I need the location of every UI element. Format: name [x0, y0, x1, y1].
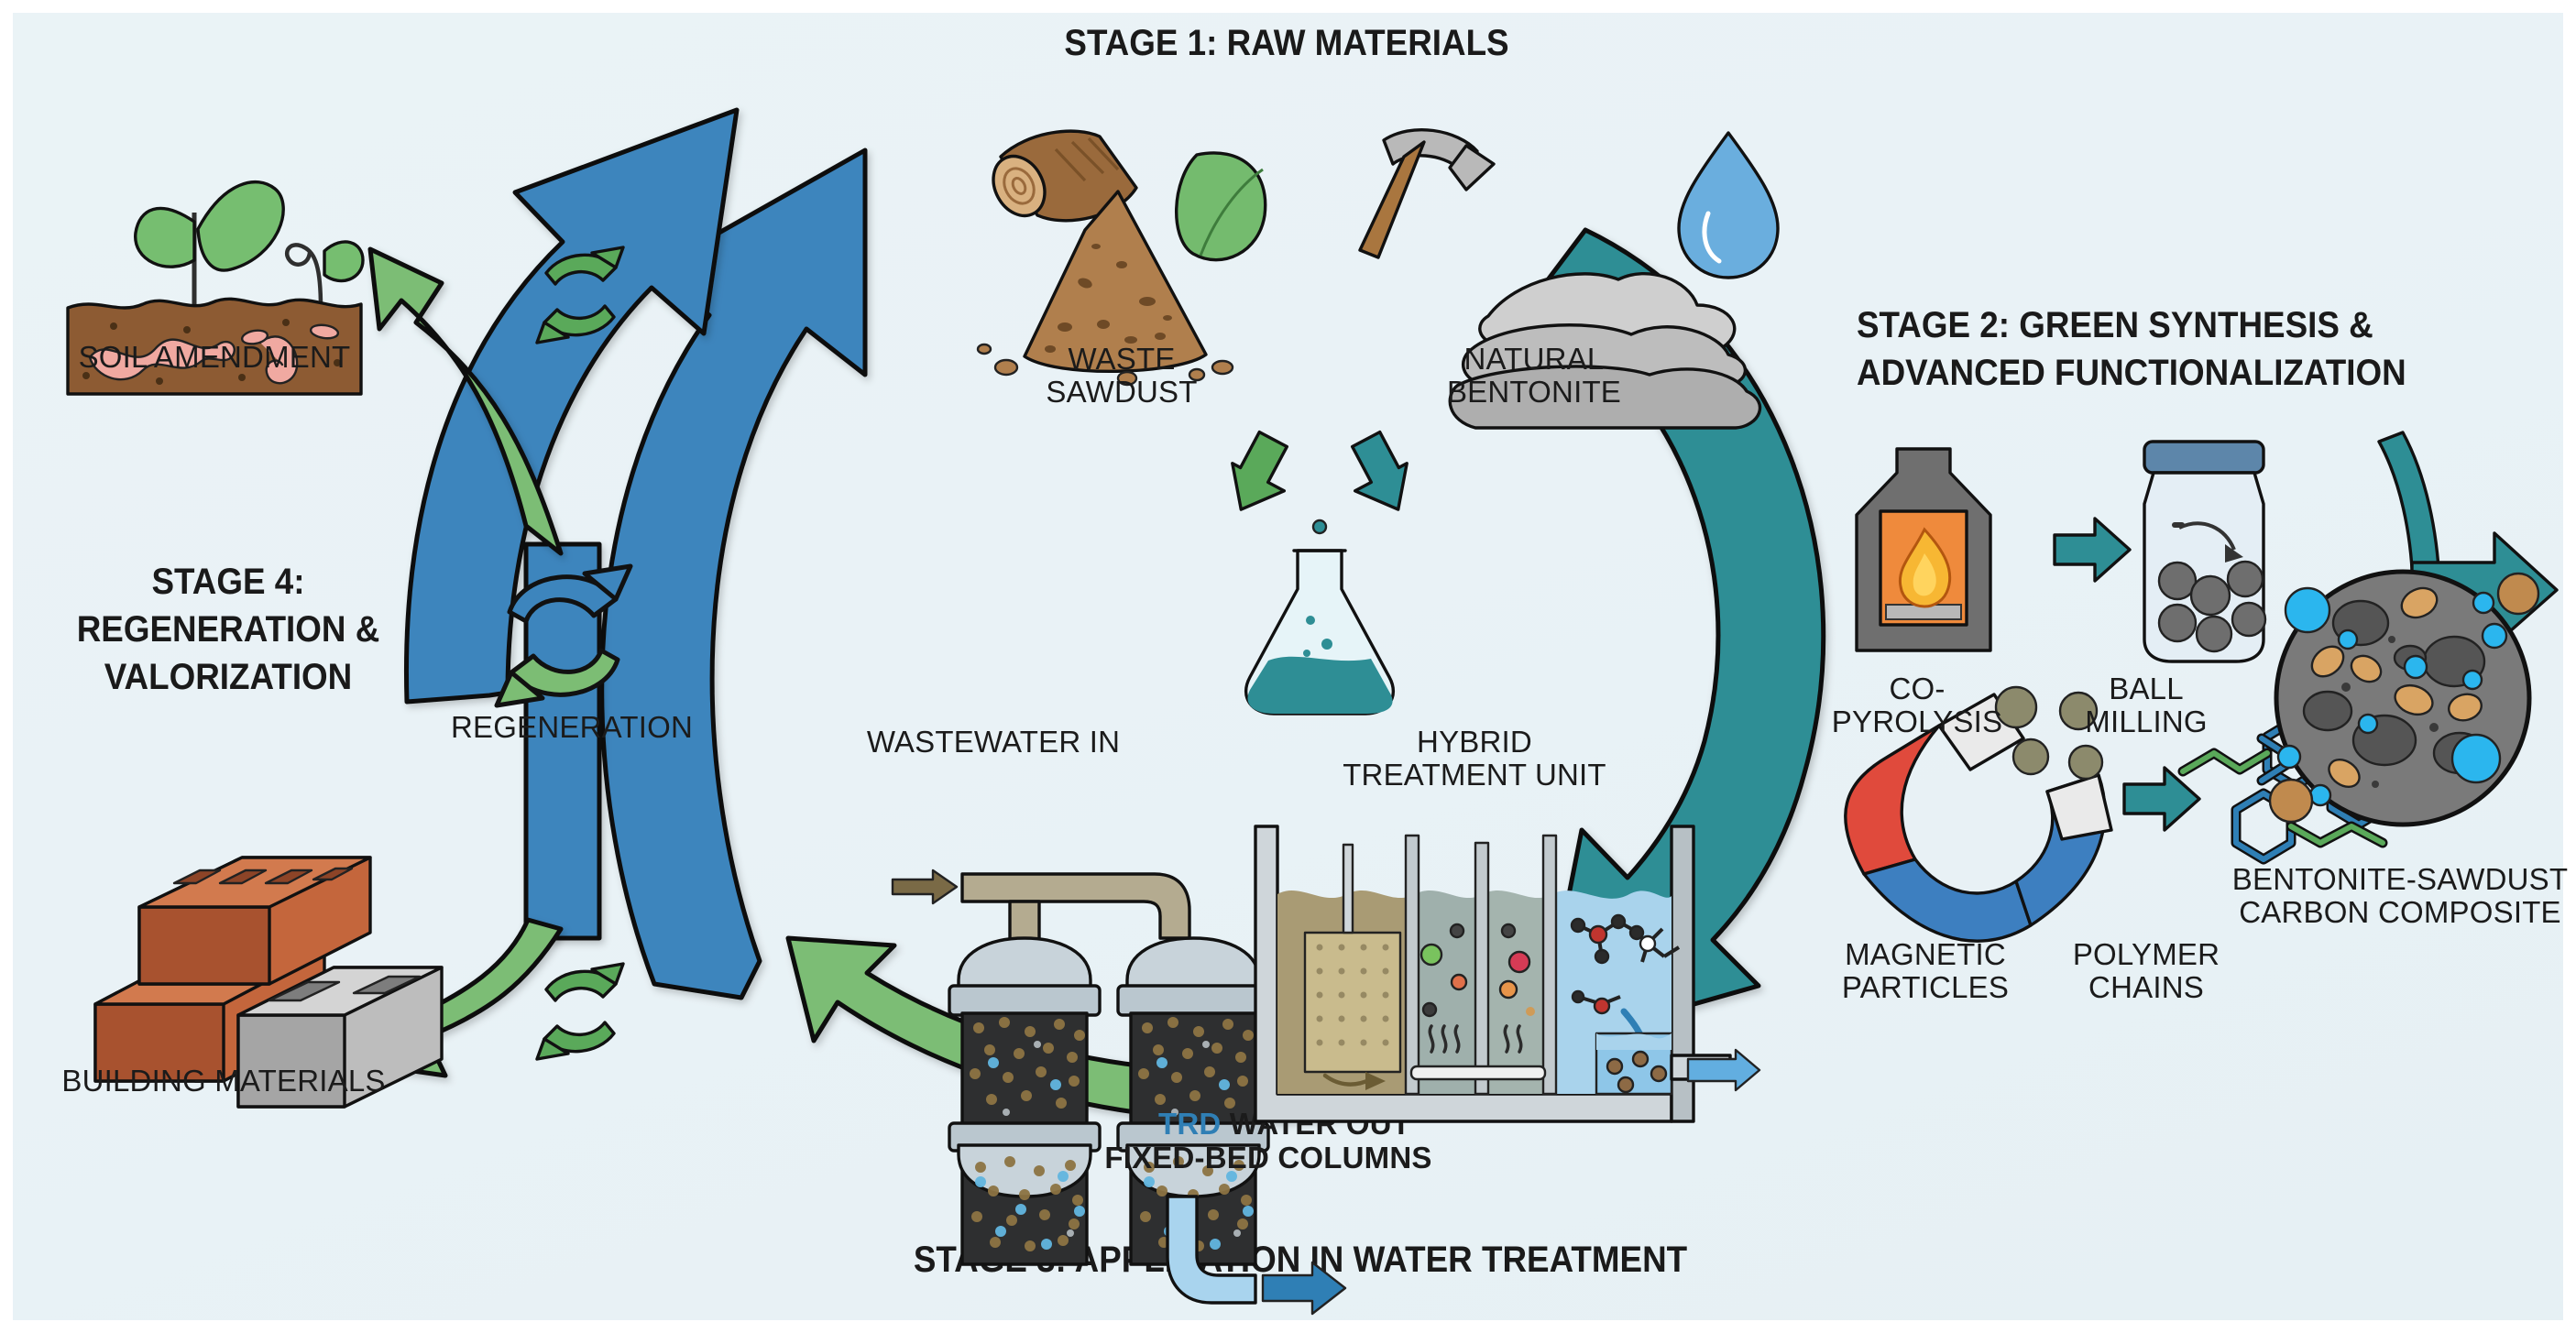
arrow-icon — [2124, 768, 2199, 830]
wastewater-in-label: WASTEWATER IN — [838, 726, 1149, 759]
arrow-icon — [893, 870, 957, 903]
furnace-fire-icon — [1857, 449, 1990, 650]
arrow-icon — [2055, 519, 2130, 581]
treatment-tank-icon — [1241, 792, 1754, 1158]
stage2-title-line2: ADVANCED FUNCTIONALIZATION — [1857, 354, 2531, 392]
leaf-icon — [1177, 153, 1266, 260]
water-droplet-icon — [1679, 133, 1778, 278]
stage2-title-line1: STAGE 2: GREEN SYNTHESIS & — [1857, 306, 2531, 344]
recycle-icon — [482, 552, 647, 716]
arrow-icon — [1215, 428, 1424, 523]
stage1-title: STAGE 1: RAW MATERIALS — [992, 24, 1582, 62]
recycle-icon — [515, 949, 643, 1077]
soil-amendment-label: SOIL AMENDMENT — [22, 341, 407, 374]
composite-label: BENTONITE-SAWDUST CARBON COMPOSITE — [2212, 863, 2576, 930]
diagram-background: STAGE 1: RAW MATERIALS STAGE 2: GREEN SY… — [13, 13, 2563, 1320]
ball-milling-label: BALL MILLING — [2055, 672, 2238, 739]
stage4-title-line2: REGENERATION & — [47, 610, 410, 649]
co-pyrolysis-label: CO- PYROLYSIS — [1816, 672, 2018, 739]
polymer-chains-label: POLYMER CHAINS — [2045, 938, 2247, 1005]
natural-bentonite-label: NATURAL BENTONITE — [1387, 343, 1681, 410]
stage4-title-line3: VALORIZATION — [47, 658, 410, 696]
stage1-icons — [948, 100, 1772, 576]
stage4-title-line1: STAGE 4: — [64, 563, 393, 601]
waste-sawdust-label: WASTE SAWDUST — [984, 343, 1259, 410]
magnetic-particles-label: MAGNETIC PARTICLES — [1811, 938, 2040, 1005]
building-materials-label: BUILDING MATERIALS — [22, 1065, 425, 1098]
recycle-icon — [515, 233, 643, 361]
pickaxe-icon — [1360, 130, 1494, 257]
stage3-title: STAGE 3: APPLICATION IN WATER TREATMENT — [757, 1240, 1845, 1279]
composite-sphere-icon — [2231, 544, 2576, 892]
trd-label: TRD — [1158, 1107, 1221, 1141]
diagram-canvas: STAGE 1: RAW MATERIALS STAGE 2: GREEN SY… — [0, 0, 2576, 1333]
regeneration-label: REGENERATION — [389, 711, 755, 744]
